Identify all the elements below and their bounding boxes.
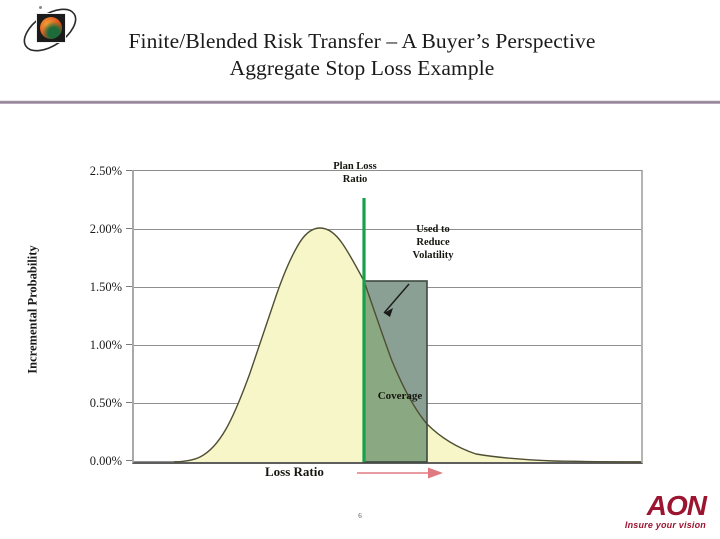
plan-loss-ratio-line-1: Plan Loss [300,160,410,173]
slide-header: Finite/Blended Risk Transfer – A Buyer’s… [0,0,720,102]
plan-loss-ratio-line-2: Ratio [300,173,410,186]
slide: Finite/Blended Risk Transfer – A Buyer’s… [0,0,720,539]
logo-globe-tile [36,13,66,43]
logo-accent-dot [39,6,42,9]
loss-ratio-direction-arrow [357,466,443,480]
y-tick-label: 0.50% [70,396,122,411]
x-axis-label: Loss Ratio [265,464,324,480]
aon-tagline: Insure your vision [594,520,706,531]
y-tick-label: 0.00% [70,454,122,469]
volatility-line-1: Used to [385,223,481,236]
page-number: 6 [350,512,370,520]
globe-icon [40,17,62,39]
volatility-annotation: Used to Reduce Volatility [385,223,481,262]
page-title-line-1: Finite/Blended Risk Transfer – A Buyer’s… [92,28,632,55]
aon-wordmark: AON [594,492,706,520]
chart-area: Incremental Probability 2.50% 2.00% 1.50… [0,102,720,484]
plot-area [132,170,643,464]
y-tick-label: 2.00% [70,222,122,237]
y-tick-label: 2.50% [70,164,122,179]
volatility-line-3: Volatility [385,249,481,262]
page-title: Finite/Blended Risk Transfer – A Buyer’s… [92,28,632,82]
plan-loss-ratio-annotation: Plan Loss Ratio [300,160,410,186]
aon-brand-logo: AON Insure your vision [594,492,706,531]
y-tick-label: 1.00% [70,338,122,353]
y-tick-label: 1.50% [70,280,122,295]
volatility-line-2: Reduce [385,236,481,249]
coverage-label: Coverage [355,390,445,403]
y-axis-label: Incremental Probability [26,215,41,405]
distribution-plot [134,171,641,462]
page-title-line-2: Aggregate Stop Loss Example [92,55,632,82]
aon-globe-logo [18,4,82,56]
